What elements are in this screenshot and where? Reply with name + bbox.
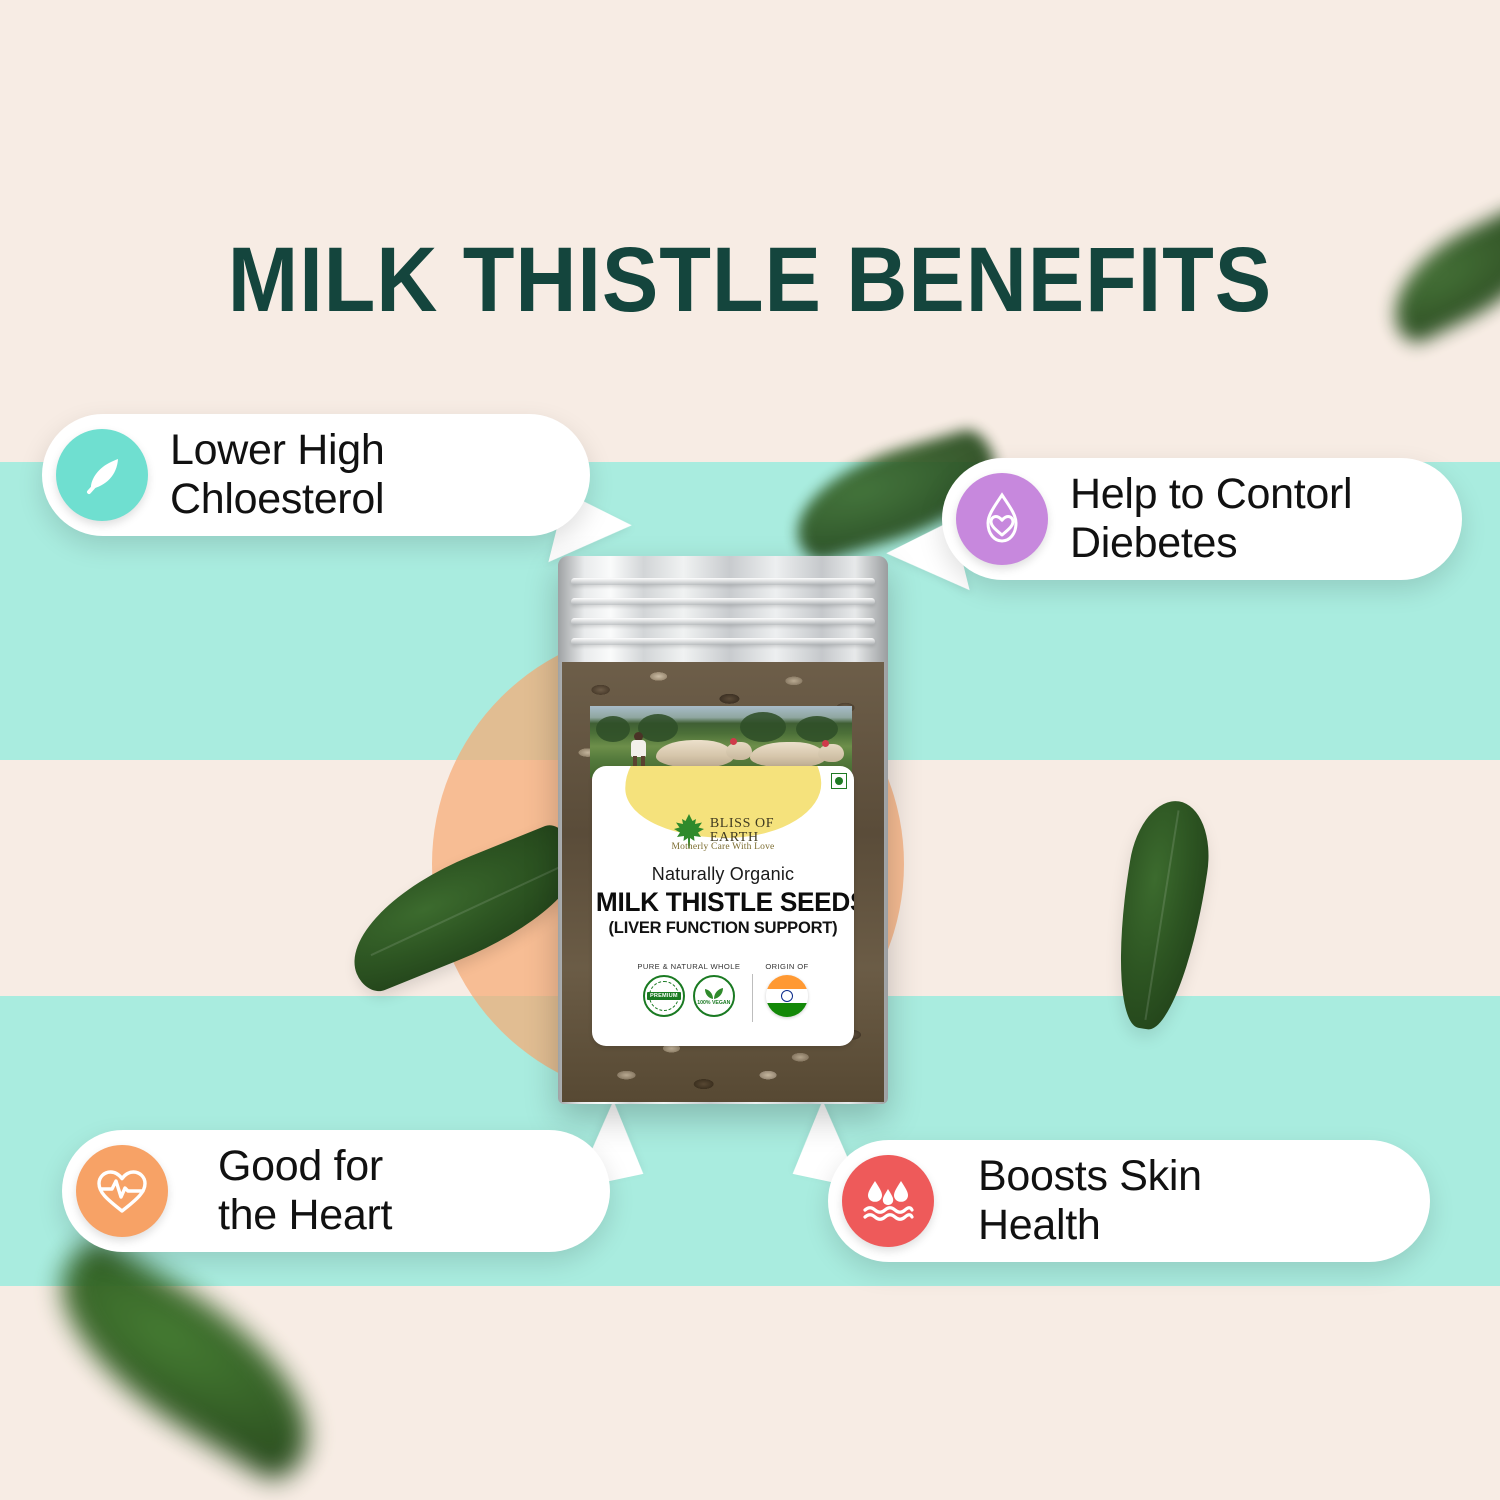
vegan-badge-icon: 100% VEGAN <box>693 975 735 1017</box>
badge-icons-left: PREMIUM 100% VEGAN <box>643 975 735 1017</box>
ox-head <box>818 744 844 762</box>
zip-ridge <box>571 578 875 585</box>
tree <box>740 712 786 742</box>
product-name: MILK THISTLE SEEDS <box>596 887 850 918</box>
page-title: MILK THISTLE BENEFITS <box>60 228 1440 333</box>
badge-caption-left: PURE & NATURAL WHOLE <box>637 962 740 971</box>
infographic-canvas: MILK THISTLE BENEFITS <box>0 0 1500 1500</box>
benefit-card-cholesterol[interactable]: Lower High Chloesterol <box>42 414 590 536</box>
badge-divider <box>752 974 753 1022</box>
tree <box>596 716 630 742</box>
label-eyebrow: Naturally Organic <box>592 864 854 885</box>
leaf-icon <box>56 429 148 521</box>
product-package[interactable]: BLISS OF EARTH Motherly Care With Love N… <box>558 556 888 1104</box>
zip-lock-area <box>558 556 888 662</box>
benefit-card-heart[interactable]: Good for the Heart <box>62 1130 610 1252</box>
ox-decoration <box>730 738 737 745</box>
ox <box>750 742 826 768</box>
zip-ridge <box>571 598 875 605</box>
benefit-card-diabetes[interactable]: Help to Contorl Diebetes <box>942 458 1462 580</box>
premium-seal-badge-icon: PREMIUM <box>643 975 685 1017</box>
product-label: BLISS OF EARTH Motherly Care With Love N… <box>592 766 854 1046</box>
pouch-body: BLISS OF EARTH Motherly Care With Love N… <box>558 556 888 1104</box>
brand-name: BLISS OF EARTH <box>710 817 774 844</box>
vegan-badge-label: 100% VEGAN <box>697 1001 730 1006</box>
blood-drop-heart-icon <box>956 473 1048 565</box>
benefit-card-label: Good for the Heart <box>218 1142 392 1240</box>
ox-head <box>726 742 752 760</box>
zip-ridge <box>571 618 875 625</box>
brand-name-line1: BLISS OF <box>710 817 774 831</box>
benefit-card-label: Lower High Chloesterol <box>170 426 385 524</box>
ox-decoration <box>822 740 829 747</box>
tree <box>638 714 678 742</box>
heart-pulse-icon <box>76 1145 168 1237</box>
water-drops-waves-icon <box>842 1155 934 1247</box>
benefit-card-skin[interactable]: Boosts Skin Health <box>828 1140 1430 1262</box>
badge-group-right: ORIGIN OF <box>765 962 808 1017</box>
vegetarian-mark-icon <box>831 773 847 789</box>
badge-group-left: PURE & NATURAL WHOLE PREMIUM <box>637 962 740 1017</box>
india-flag-icon <box>766 975 808 1017</box>
label-body: Naturally Organic MILK THISTLE SEEDS (LI… <box>592 864 854 938</box>
farmer-body <box>631 740 646 757</box>
badge-caption-right: ORIGIN OF <box>765 962 808 971</box>
brand-tagline: Motherly Care With Love <box>592 842 854 852</box>
ox <box>656 740 734 768</box>
label-badge-row: PURE & NATURAL WHOLE PREMIUM <box>592 962 854 1022</box>
benefit-card-label: Help to Contorl Diebetes <box>1070 470 1352 568</box>
benefit-card-label: Boosts Skin Health <box>978 1152 1202 1250</box>
zip-ridge <box>571 638 875 645</box>
product-subtitle: (LIVER FUNCTION SUPPORT) <box>592 919 854 938</box>
tree <box>796 716 838 742</box>
